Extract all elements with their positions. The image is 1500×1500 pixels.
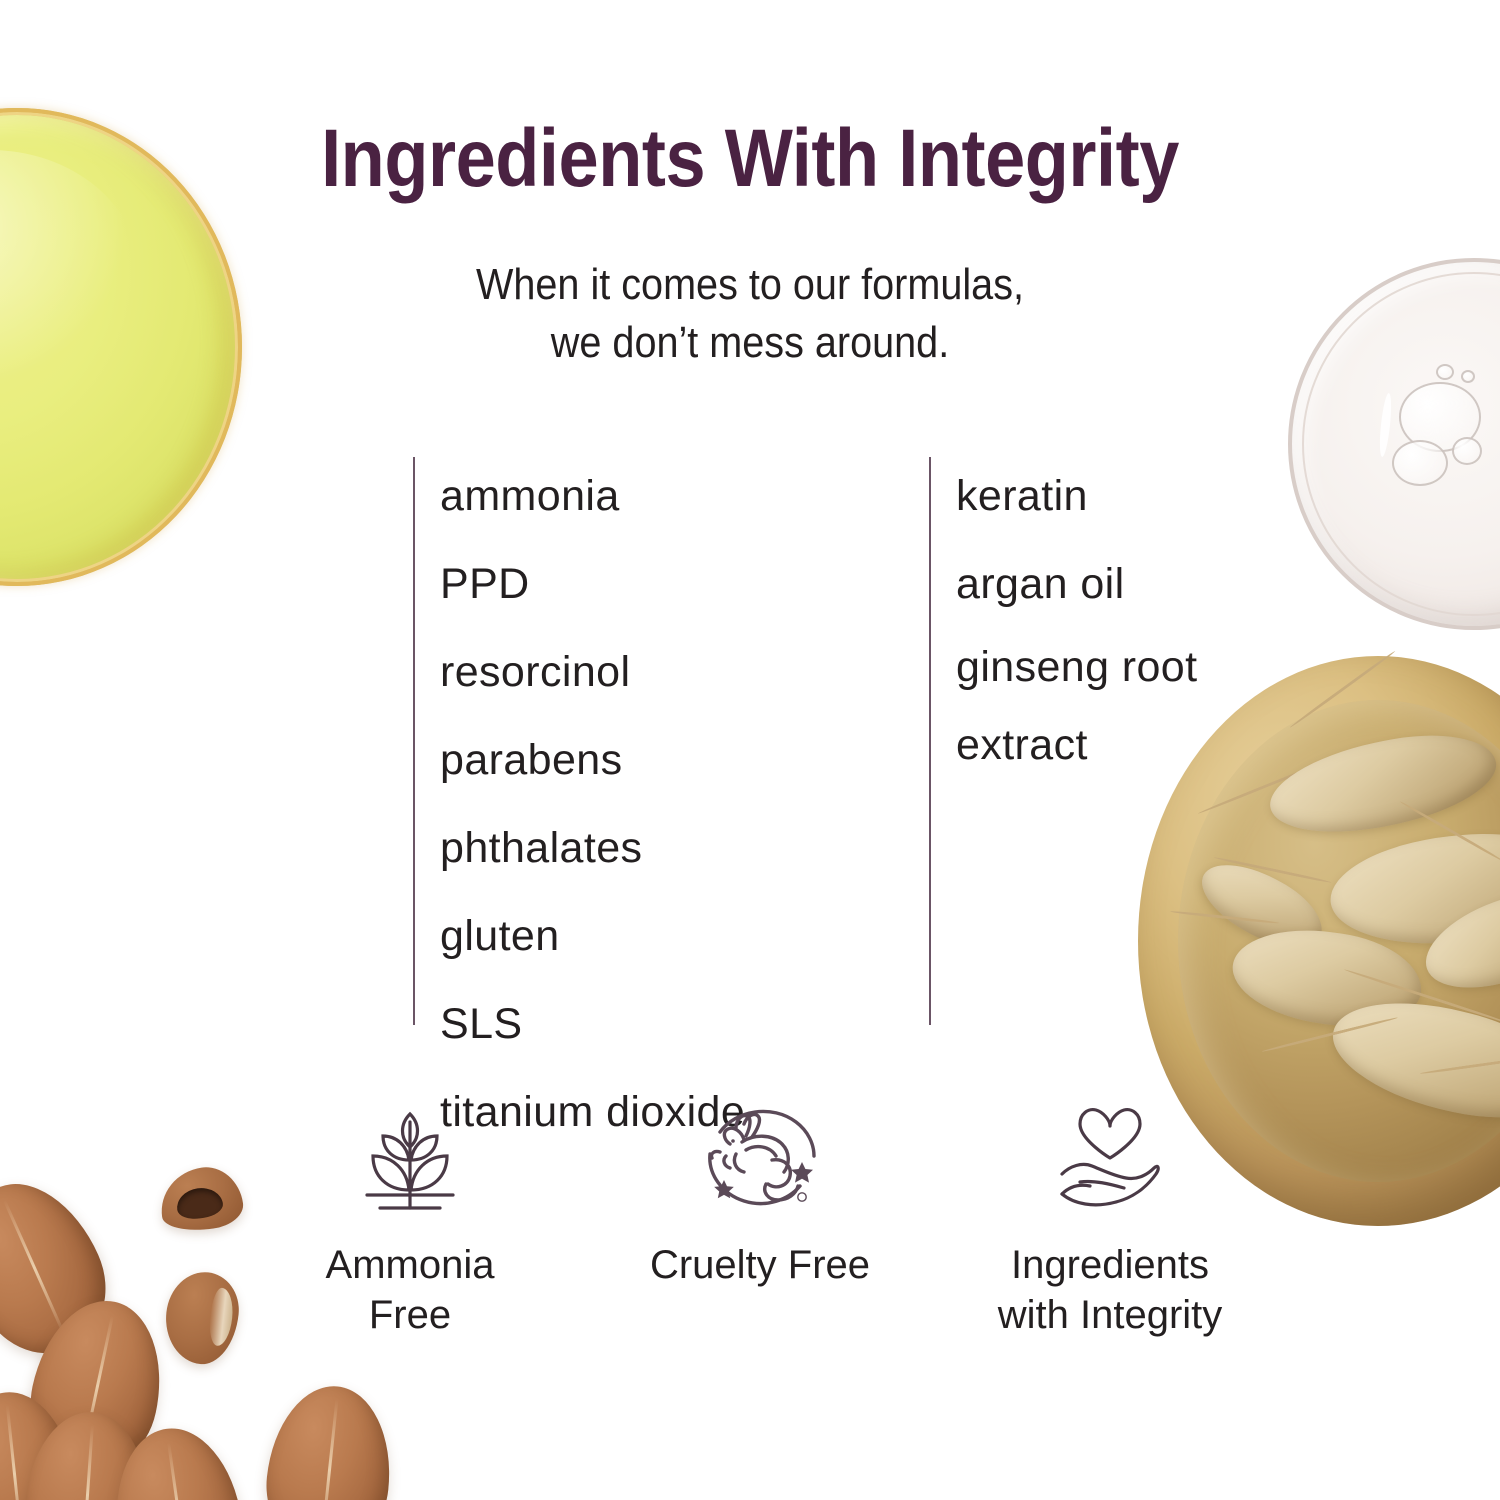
ginseng-tendril	[1420, 1054, 1500, 1075]
ginseng-tendril	[1170, 910, 1280, 924]
argan-nut	[0, 1386, 82, 1500]
ginseng-tendril	[1214, 856, 1332, 884]
list-item: phthalates	[440, 804, 745, 892]
gel-highlight	[1378, 393, 1394, 458]
leaping-bunny-icon	[600, 1096, 920, 1226]
plant-sprout-icon	[250, 1096, 570, 1226]
badge-ingredients-with-integrity: Ingredients with Integrity	[950, 1096, 1270, 1340]
ginseng-tendril	[1262, 1016, 1399, 1053]
gel-bubble	[1452, 437, 1482, 465]
list-item: gluten	[440, 892, 745, 980]
free-of-divider	[413, 457, 415, 1025]
list-item: ginseng root	[956, 628, 1197, 706]
infographic-page: Ingredients With Integrity When it comes…	[0, 0, 1500, 1500]
badge-row: Ammonia Free	[250, 1096, 1270, 1340]
gel-bubble	[1392, 440, 1448, 486]
badge-label-line-1: Ingredients	[950, 1240, 1270, 1290]
badge-label-line-1: Cruelty Free	[600, 1240, 920, 1290]
badge-label-line-2: with Integrity	[950, 1290, 1270, 1340]
ginseng-tendril	[1197, 756, 1337, 815]
full-of-divider	[929, 457, 931, 1025]
list-item: SLS	[440, 980, 745, 1068]
ginseng-root	[1321, 982, 1500, 1137]
badge-label-line-1: Ammonia	[250, 1240, 570, 1290]
full-of-list: keratin argan oil ginseng root extract	[956, 452, 1197, 784]
badge-label: Ammonia Free	[250, 1240, 570, 1340]
ginseng-root	[1413, 873, 1500, 1006]
list-item: argan oil	[956, 540, 1197, 628]
argan-nut	[17, 1289, 176, 1483]
badge-label: Cruelty Free	[600, 1240, 920, 1290]
gel-bubble	[1436, 364, 1454, 380]
list-item: extract	[956, 706, 1197, 784]
subtitle-line-1: When it comes to our formulas,	[75, 256, 1425, 314]
badge-label: Ingredients with Integrity	[950, 1240, 1270, 1340]
gel-bubble	[1399, 382, 1481, 452]
badge-ammonia-free: Ammonia Free	[250, 1096, 570, 1340]
free-of-list: ammonia PPD resorcinol parabens phthalat…	[440, 452, 745, 1156]
list-item: ammonia	[440, 452, 745, 540]
page-title: Ingredients With Integrity	[90, 112, 1410, 206]
ginseng-root	[1227, 919, 1428, 1037]
argan-nut	[20, 1408, 153, 1500]
page-subtitle: When it comes to our formulas, we don’t …	[75, 256, 1425, 372]
list-item: resorcinol	[440, 628, 745, 716]
argan-shell-fragment	[161, 1268, 242, 1367]
ginseng-tendril	[1289, 650, 1396, 729]
badge-cruelty-free: Cruelty Free	[600, 1096, 920, 1340]
subtitle-line-2: we don’t mess around.	[75, 314, 1425, 372]
gel-bubble	[1461, 370, 1475, 383]
badge-label-line-2: Free	[250, 1290, 570, 1340]
list-item: PPD	[440, 540, 745, 628]
hand-heart-icon	[950, 1096, 1270, 1226]
ginseng-tendril	[1399, 800, 1500, 863]
ginseng-tendril	[1344, 968, 1500, 1025]
list-item: parabens	[440, 716, 745, 804]
ginseng-root	[1190, 849, 1335, 964]
list-item: keratin	[956, 452, 1197, 540]
argan-nut	[105, 1420, 251, 1500]
argan-nut	[260, 1380, 399, 1500]
ginseng-root	[1262, 719, 1500, 849]
argan-shell-fragment	[156, 1163, 246, 1236]
argan-nut	[0, 1162, 128, 1375]
ginseng-root	[1325, 823, 1500, 955]
